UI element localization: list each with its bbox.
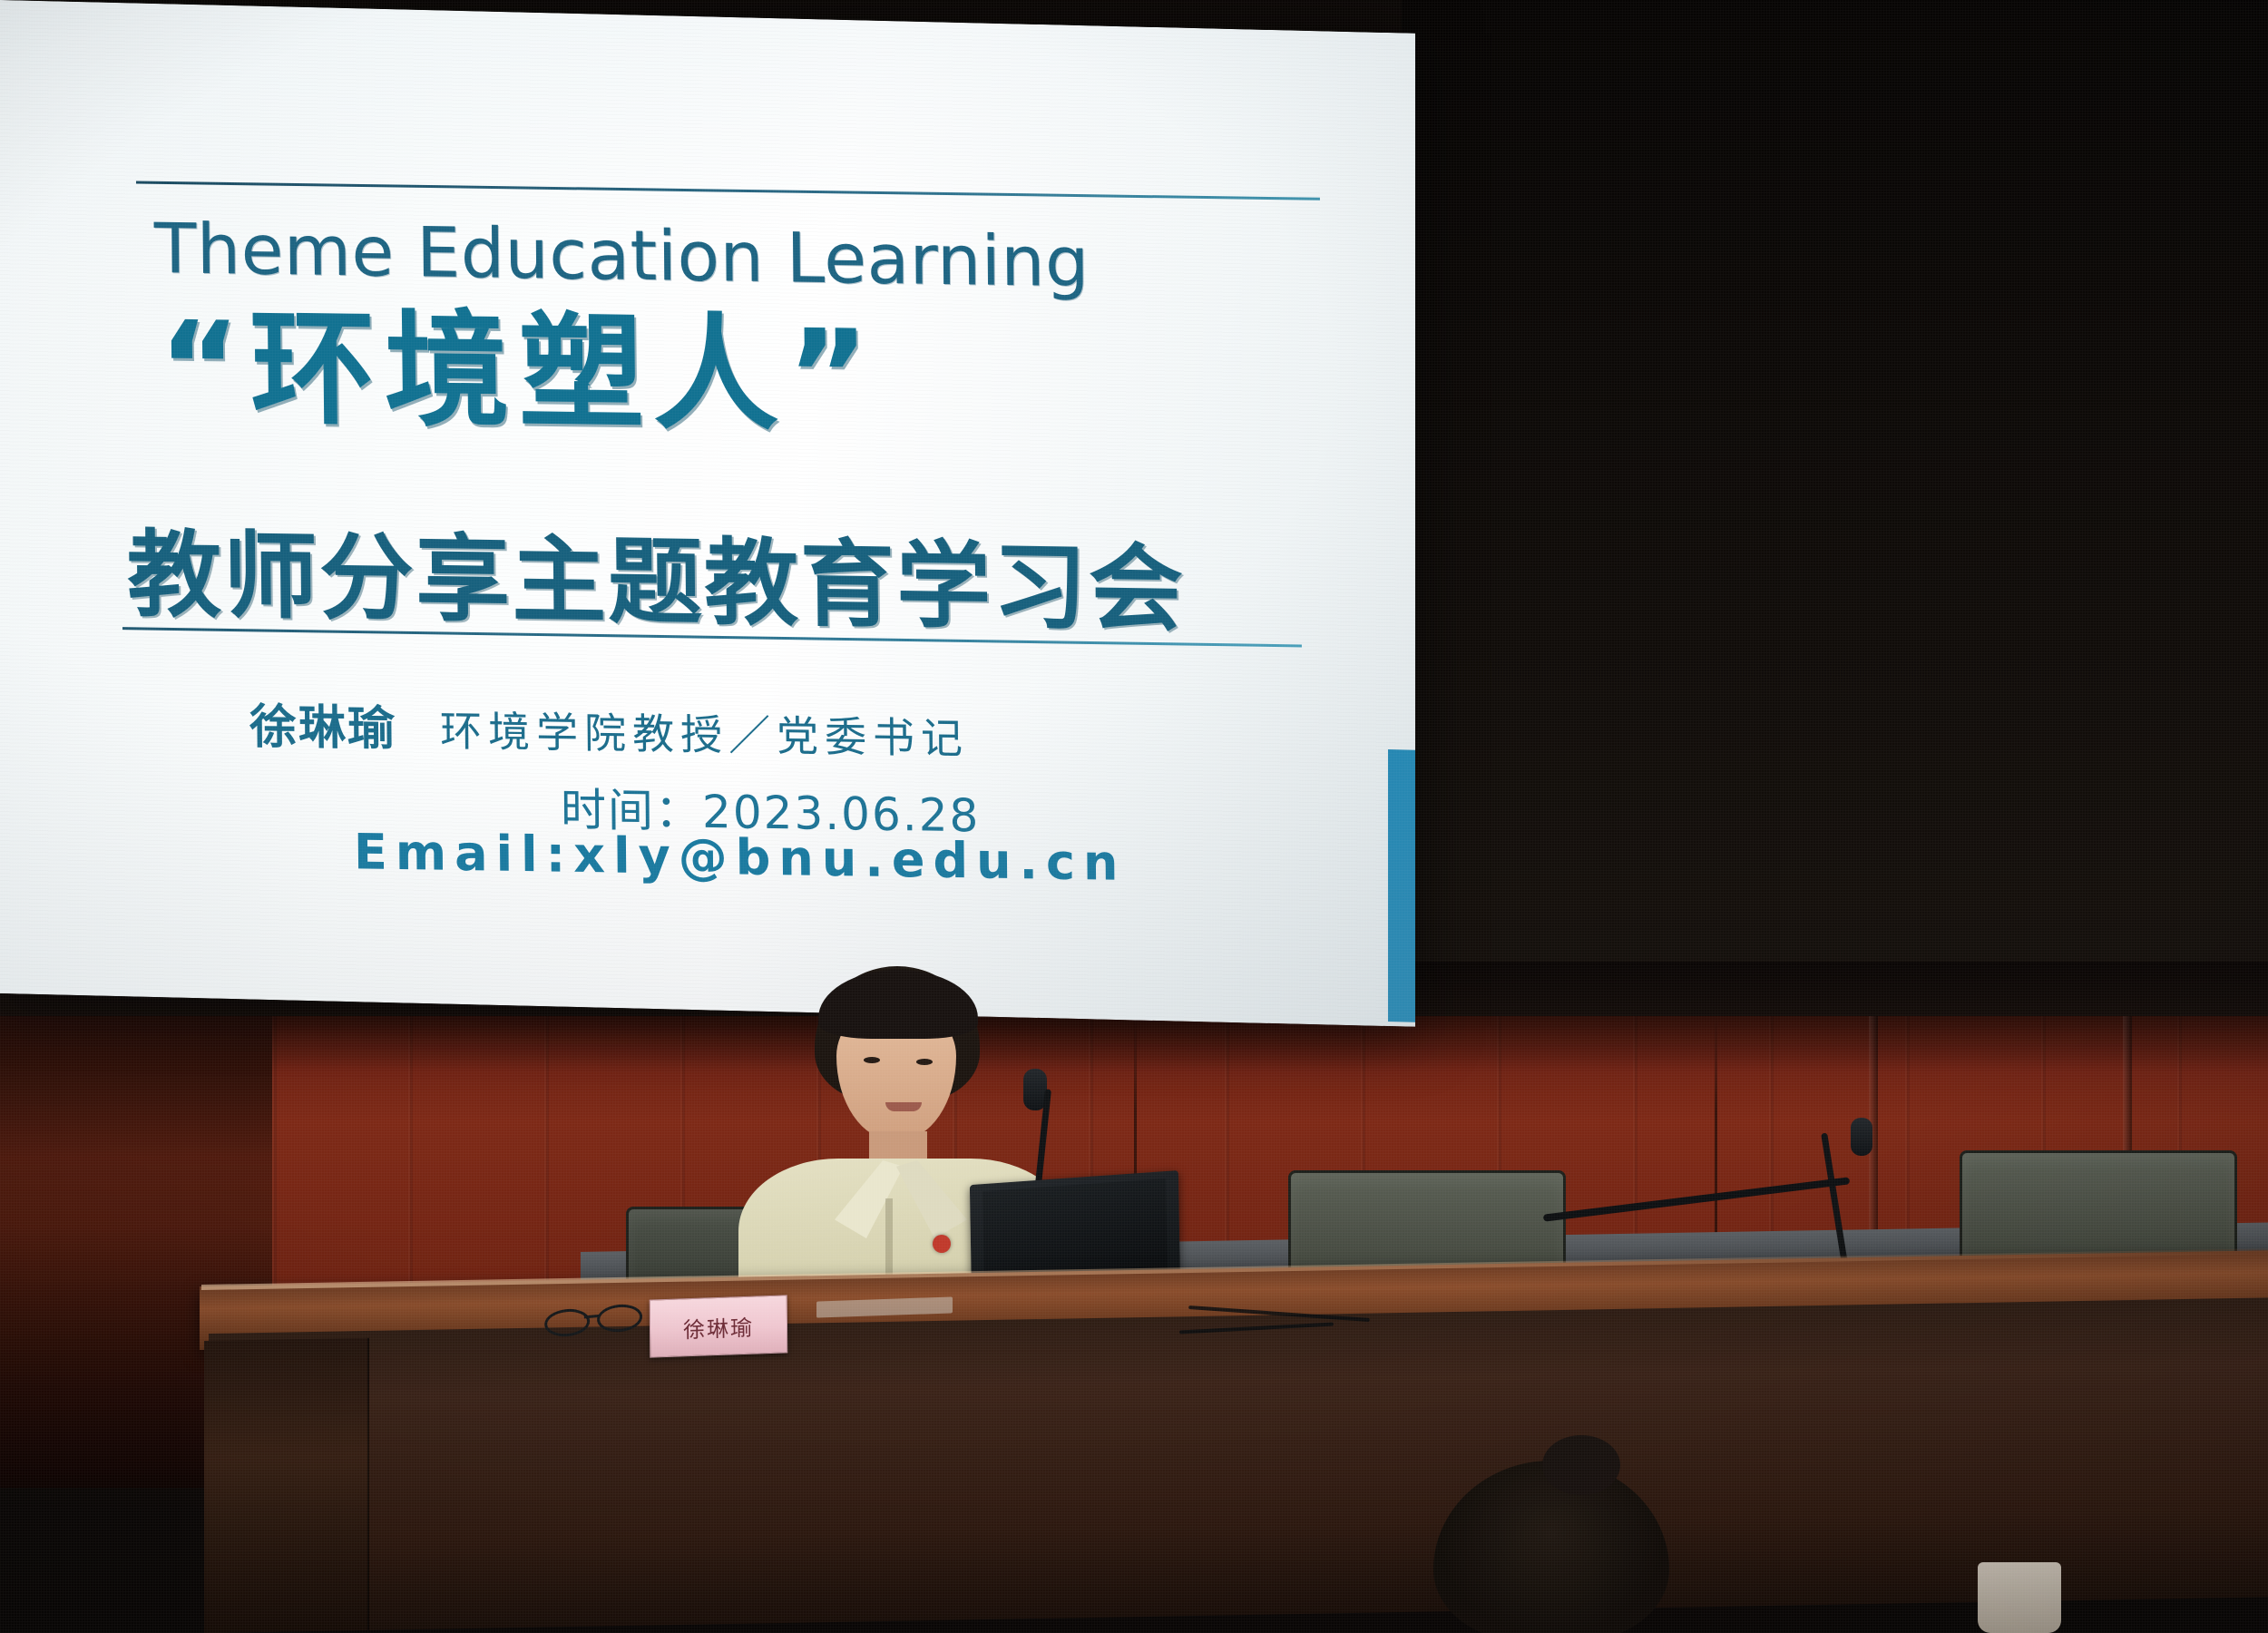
slide-content: Theme Education Learning “环境塑人” 教师分享主题教育… xyxy=(0,0,1415,1027)
slide-subtitle: 教师分享主题教育学习会 xyxy=(126,497,1185,649)
slide-email: Email:xly@bnu.edu.cn xyxy=(354,823,1127,892)
slide-english-title: Theme Education Learning xyxy=(154,208,1090,302)
speaker-eye-left xyxy=(864,1057,880,1063)
nameplate-text: 徐琳瑜 xyxy=(683,1309,754,1344)
speaker-eye-right xyxy=(916,1059,933,1065)
speaker-fringe xyxy=(818,970,978,1039)
blue-panel-decoration xyxy=(1388,749,1415,1027)
paper-cup xyxy=(1978,1562,2061,1633)
title-rule-top xyxy=(136,181,1320,200)
presenter-name: 徐琳瑜 xyxy=(249,699,397,756)
table-side-panel xyxy=(204,1338,369,1633)
projection-screen: Theme Education Learning “环境塑人” 教师分享主题教育… xyxy=(0,0,1415,1027)
slide-presenter-line: 徐琳瑜环境学院教授／党委书记 xyxy=(249,688,970,767)
wall-right-of-screen xyxy=(1402,0,2268,989)
audience-hair-bun xyxy=(1542,1435,1620,1495)
table-front-panel xyxy=(209,1297,2268,1633)
slide-main-title: “环境塑人” xyxy=(158,298,879,445)
speaker-mouth xyxy=(885,1102,922,1111)
screenshot-root: Theme Education Learning “环境塑人” 教师分享主题教育… xyxy=(0,0,2268,1633)
presenter-role: 环境学院教授／党委书记 xyxy=(440,707,969,764)
party-emblem-badge xyxy=(933,1235,951,1253)
microphone-head xyxy=(1851,1118,1872,1156)
desk-nameplate: 徐琳瑜 xyxy=(650,1295,788,1357)
